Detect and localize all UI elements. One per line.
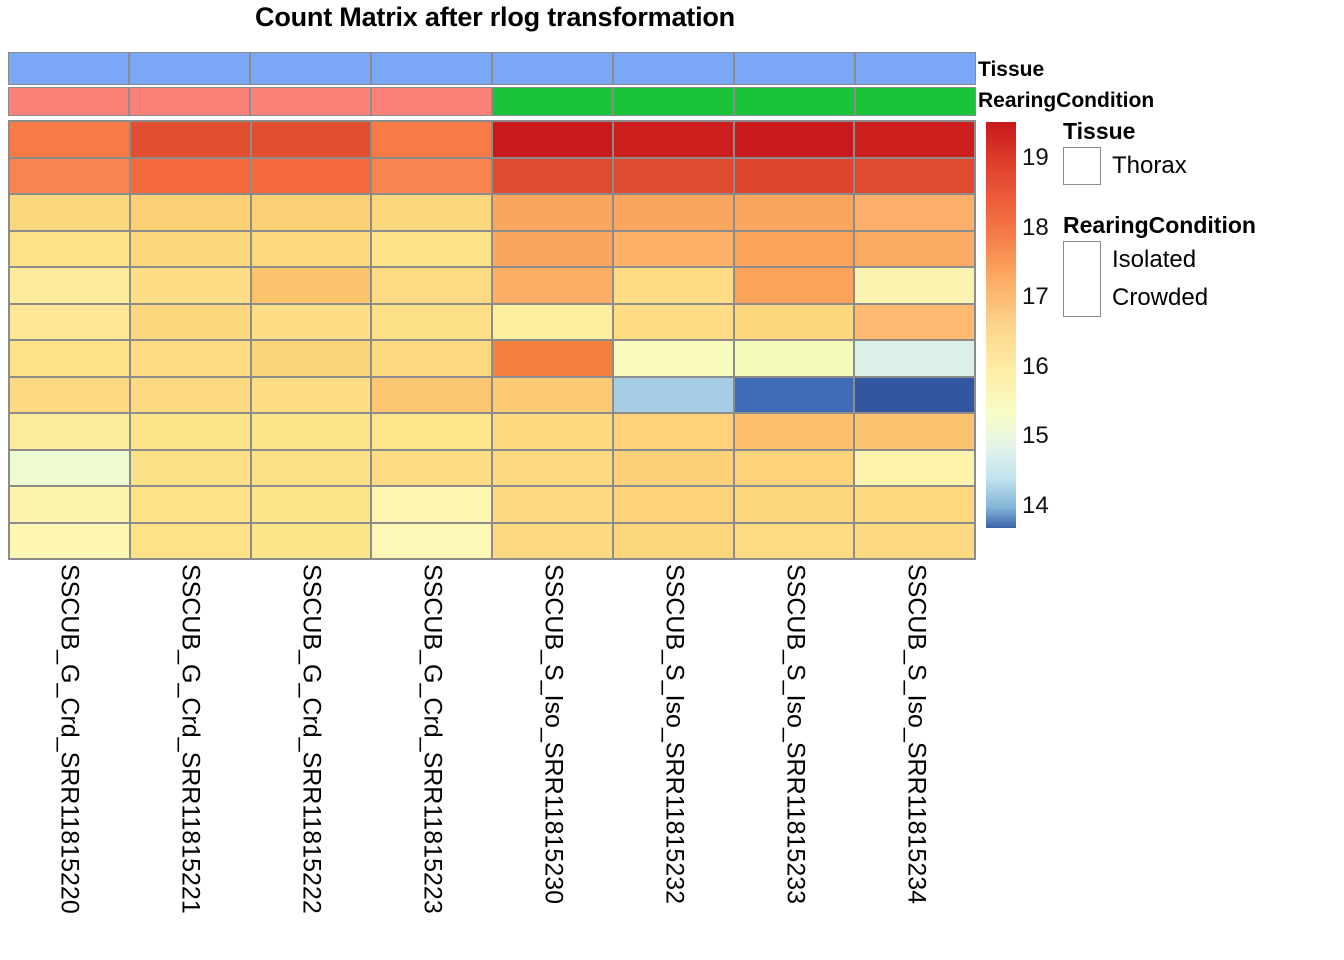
column-labels: SSCUB_G_Crd_SRR11815220SSCUB_G_Crd_SRR11… [8, 560, 976, 960]
heatmap-cell [734, 450, 855, 487]
annotation-cell-rearingcondition [371, 87, 492, 116]
heatmap-cell [734, 121, 855, 158]
annotation-cell-rearingcondition [492, 87, 613, 116]
heatmap-cell [130, 158, 251, 195]
column-label-cell: SSCUB_G_Crd_SRR11815222 [250, 560, 371, 960]
heatmap-cell [251, 486, 372, 523]
heatmap-cell [251, 377, 372, 414]
column-label: SSCUB_S_Iso_SRR11815234 [901, 564, 930, 904]
annotation-cell-tissue [250, 52, 371, 85]
heatmap-cell [130, 377, 251, 414]
annotation-cell-tissue [129, 52, 250, 85]
legend-label-crowded: Crowded [1112, 284, 1208, 312]
heatmap-cell [492, 121, 613, 158]
column-label: SSCUB_G_Crd_SRR11815221 [175, 564, 204, 914]
annotation-label-tissue: Tissue [978, 58, 1044, 82]
colorbar-tick-label: 15 [1022, 422, 1049, 450]
column-label-cell: SSCUB_S_Iso_SRR11815230 [492, 560, 613, 960]
colorbar-gradient [986, 122, 1016, 528]
heatmap-cell [613, 194, 734, 231]
legend-swatch-isolated [1063, 241, 1101, 279]
heatmap-grid [8, 120, 976, 560]
heatmap-cell [9, 450, 130, 487]
heatmap-cell [9, 304, 130, 341]
heatmap-cell [371, 194, 492, 231]
heatmap-row [9, 523, 975, 560]
heatmap-cell [854, 231, 975, 268]
heatmap-cell [371, 158, 492, 195]
heatmap-cell [734, 340, 855, 377]
legend-label-isolated: Isolated [1112, 246, 1196, 274]
legend-label-thorax: Thorax [1112, 152, 1187, 180]
heatmap-cell [854, 486, 975, 523]
heatmap-cell [492, 231, 613, 268]
heatmap-cell [613, 304, 734, 341]
legend-swatch-crowded [1063, 279, 1101, 317]
annotation-bar-tissue [8, 52, 976, 85]
heatmap-row [9, 158, 975, 195]
heatmap-cell [734, 486, 855, 523]
colorbar: 191817161514 [986, 122, 1016, 528]
column-label: SSCUB_G_Crd_SRR11815220 [54, 564, 83, 914]
heatmap-cell [492, 304, 613, 341]
colorbar-tick-label: 19 [1022, 144, 1049, 172]
heatmap-cell [854, 158, 975, 195]
heatmap-cell [613, 450, 734, 487]
legend-item-thorax: Thorax [1063, 147, 1187, 185]
heatmap-row [9, 413, 975, 450]
legend-title-rearingcondition: RearingCondition [1063, 212, 1256, 239]
legend-swatch-thorax [1063, 147, 1101, 185]
heatmap-cell [854, 377, 975, 414]
heatmap-cell [9, 413, 130, 450]
column-label: SSCUB_S_Iso_SRR11815230 [538, 564, 567, 904]
heatmap-row [9, 340, 975, 377]
annotation-cell-tissue [613, 52, 734, 85]
heatmap-cell [251, 304, 372, 341]
heatmap-cell [371, 231, 492, 268]
heatmap-row [9, 231, 975, 268]
heatmap-row [9, 486, 975, 523]
heatmap-cell [613, 121, 734, 158]
legend-item-crowded: Crowded [1063, 279, 1256, 317]
heatmap-cell [492, 450, 613, 487]
heatmap-cell [854, 304, 975, 341]
legend-rearingcondition: RearingCondition Isolated Crowded [1063, 212, 1256, 317]
heatmap-row [9, 450, 975, 487]
heatmap-cell [130, 121, 251, 158]
column-label: SSCUB_G_Crd_SRR11815223 [417, 564, 446, 914]
heatmap-cell [130, 413, 251, 450]
heatmap-cell [371, 267, 492, 304]
heatmap-cell [9, 486, 130, 523]
heatmap-cell [9, 267, 130, 304]
heatmap-cell [492, 523, 613, 560]
annotation-cell-rearingcondition [855, 87, 976, 116]
heatmap-cell [371, 413, 492, 450]
annotation-cell-tissue [855, 52, 976, 85]
heatmap-cell [613, 158, 734, 195]
heatmap-cell [130, 194, 251, 231]
heatmap-cell [251, 231, 372, 268]
heatmap-cell [613, 340, 734, 377]
column-label: SSCUB_G_Crd_SRR11815222 [296, 564, 325, 914]
heatmap-cell [130, 304, 251, 341]
annotation-cell-tissue [492, 52, 613, 85]
heatmap-cell [734, 304, 855, 341]
heatmap-cell [130, 267, 251, 304]
heatmap-cell [251, 413, 372, 450]
heatmap-cell [130, 340, 251, 377]
annotation-cell-rearingcondition [129, 87, 250, 116]
heatmap-cell [371, 523, 492, 560]
heatmap-cell [613, 377, 734, 414]
heatmap-cell [9, 194, 130, 231]
annotation-cell-tissue [371, 52, 492, 85]
heatmap-cell [854, 194, 975, 231]
heatmap-row [9, 304, 975, 341]
heatmap-cell [734, 413, 855, 450]
colorbar-tick-label: 18 [1022, 214, 1049, 242]
heatmap-cell [492, 377, 613, 414]
heatmap-cell [371, 304, 492, 341]
heatmap-cell [854, 121, 975, 158]
column-label-cell: SSCUB_S_Iso_SRR11815233 [734, 560, 855, 960]
heatmap-cell [613, 413, 734, 450]
annotation-cell-rearingcondition [734, 87, 855, 116]
heatmap-cell [371, 486, 492, 523]
heatmap-cell [492, 158, 613, 195]
heatmap-cell [371, 450, 492, 487]
heatmap-plot [8, 52, 976, 560]
column-label-cell: SSCUB_S_Iso_SRR11815234 [855, 560, 976, 960]
heatmap-cell [854, 413, 975, 450]
column-label: SSCUB_S_Iso_SRR11815232 [659, 564, 688, 904]
heatmap-cell [492, 486, 613, 523]
annotation-bar-rearingcondition [8, 87, 976, 116]
heatmap-cell [613, 486, 734, 523]
column-label-cell: SSCUB_G_Crd_SRR11815221 [129, 560, 250, 960]
heatmap-cell [734, 523, 855, 560]
heatmap-cell [371, 377, 492, 414]
heatmap-cell [130, 523, 251, 560]
heatmap-cell [251, 194, 372, 231]
heatmap-cell [854, 340, 975, 377]
column-label-cell: SSCUB_G_Crd_SRR11815223 [371, 560, 492, 960]
annotation-cell-rearingcondition [250, 87, 371, 116]
heatmap-cell [734, 158, 855, 195]
legend-tissue: Tissue Thorax [1063, 118, 1187, 185]
heatmap-cell [492, 340, 613, 377]
heatmap-cell [734, 231, 855, 268]
colorbar-tick-label: 16 [1022, 353, 1049, 381]
heatmap-cell [734, 267, 855, 304]
legend-item-isolated: Isolated [1063, 241, 1256, 279]
heatmap-cell [251, 450, 372, 487]
heatmap-cell [251, 523, 372, 560]
heatmap-cell [854, 267, 975, 304]
heatmap-cell [130, 450, 251, 487]
heatmap-cell [492, 194, 613, 231]
heatmap-cell [613, 523, 734, 560]
annotation-cell-tissue [734, 52, 855, 85]
heatmap-cell [613, 231, 734, 268]
heatmap-cell [734, 377, 855, 414]
heatmap-row [9, 194, 975, 231]
heatmap-cell [251, 158, 372, 195]
column-label-cell: SSCUB_S_Iso_SRR11815232 [613, 560, 734, 960]
heatmap-cell [854, 450, 975, 487]
annotation-cell-rearingcondition [8, 87, 129, 116]
heatmap-row [9, 267, 975, 304]
heatmap-cell [130, 486, 251, 523]
heatmap-cell [9, 340, 130, 377]
heatmap-cell [251, 340, 372, 377]
heatmap-cell [854, 523, 975, 560]
heatmap-cell [130, 231, 251, 268]
heatmap-cell [492, 413, 613, 450]
heatmap-cell [613, 267, 734, 304]
heatmap-cell [9, 523, 130, 560]
heatmap-cell [492, 267, 613, 304]
heatmap-cell [251, 121, 372, 158]
heatmap-cell [251, 267, 372, 304]
heatmap-cell [9, 377, 130, 414]
heatmap-cell [371, 340, 492, 377]
heatmap-cell [371, 121, 492, 158]
heatmap-row [9, 377, 975, 414]
heatmap-cell [9, 121, 130, 158]
annotation-cell-tissue [8, 52, 129, 85]
heatmap-cell [734, 194, 855, 231]
column-label: SSCUB_S_Iso_SRR11815233 [780, 564, 809, 904]
colorbar-tick-label: 14 [1022, 492, 1049, 520]
annotation-cell-rearingcondition [613, 87, 734, 116]
heatmap-row [9, 121, 975, 158]
page-title: Count Matrix after rlog transformation [0, 2, 990, 33]
legend-title-tissue: Tissue [1063, 118, 1187, 145]
colorbar-tick-label: 17 [1022, 283, 1049, 311]
heatmap-cell [9, 231, 130, 268]
annotation-label-rearingcondition: RearingCondition [978, 89, 1154, 113]
heatmap-cell [9, 158, 130, 195]
column-label-cell: SSCUB_G_Crd_SRR11815220 [8, 560, 129, 960]
